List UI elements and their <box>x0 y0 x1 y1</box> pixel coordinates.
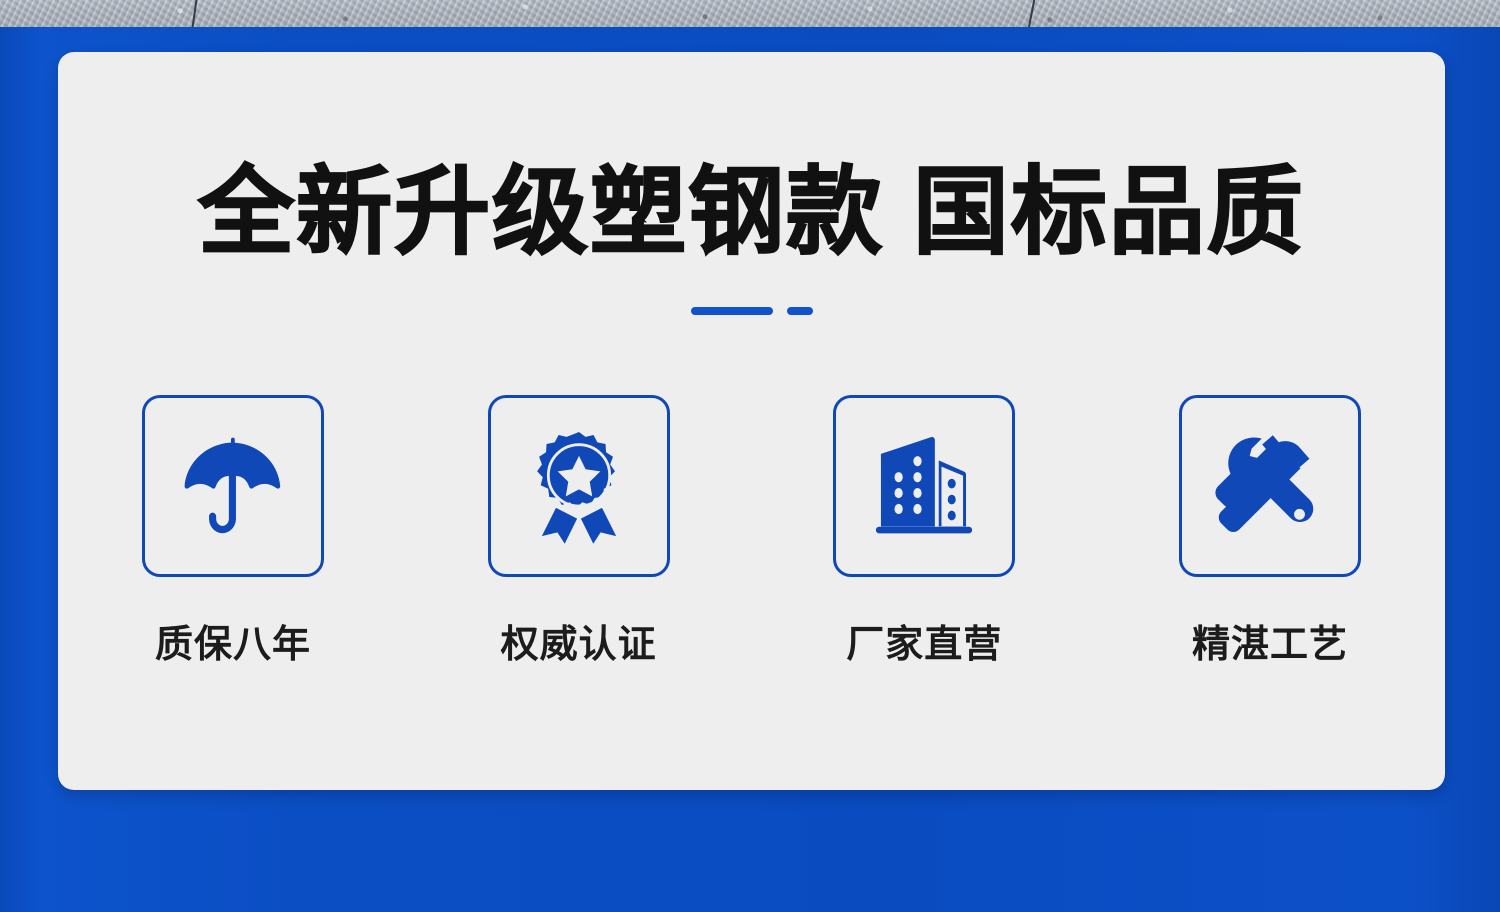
page-title: 全新升级塑钢款 国标品质 <box>58 160 1445 266</box>
icon-box-craftsmanship <box>1179 395 1361 577</box>
feature-label: 权威认证 <box>501 613 657 668</box>
feature-card: 全新升级塑钢款 国标品质 质保八年 <box>58 52 1445 790</box>
product-feature-banner: 全新升级塑钢款 国标品质 质保八年 <box>0 0 1500 912</box>
umbrella-icon <box>174 427 292 545</box>
hammer-wrench-icon <box>1211 427 1329 545</box>
feature-label: 质保八年 <box>155 613 311 668</box>
feature-item-craftsmanship: 精湛工艺 <box>1145 395 1395 668</box>
icon-box-factory <box>833 395 1015 577</box>
concrete-texture-strip <box>0 0 1500 27</box>
title-divider <box>58 307 1445 315</box>
feature-label: 厂家直营 <box>846 613 1002 668</box>
feature-list: 质保八年 权威认证 <box>108 395 1395 668</box>
feature-label: 精湛工艺 <box>1192 613 1348 668</box>
tile-seam-line <box>191 0 198 27</box>
feature-item-factory: 厂家直营 <box>799 395 1049 668</box>
factory-building-icon <box>865 427 983 545</box>
divider-long-dash <box>691 307 773 315</box>
feature-item-warranty: 质保八年 <box>108 395 358 668</box>
tile-seam-line <box>1028 0 1036 27</box>
divider-short-dash <box>787 307 813 315</box>
icon-box-warranty <box>142 395 324 577</box>
icon-box-certification <box>488 395 670 577</box>
award-badge-icon <box>520 427 638 545</box>
feature-item-certification: 权威认证 <box>454 395 704 668</box>
